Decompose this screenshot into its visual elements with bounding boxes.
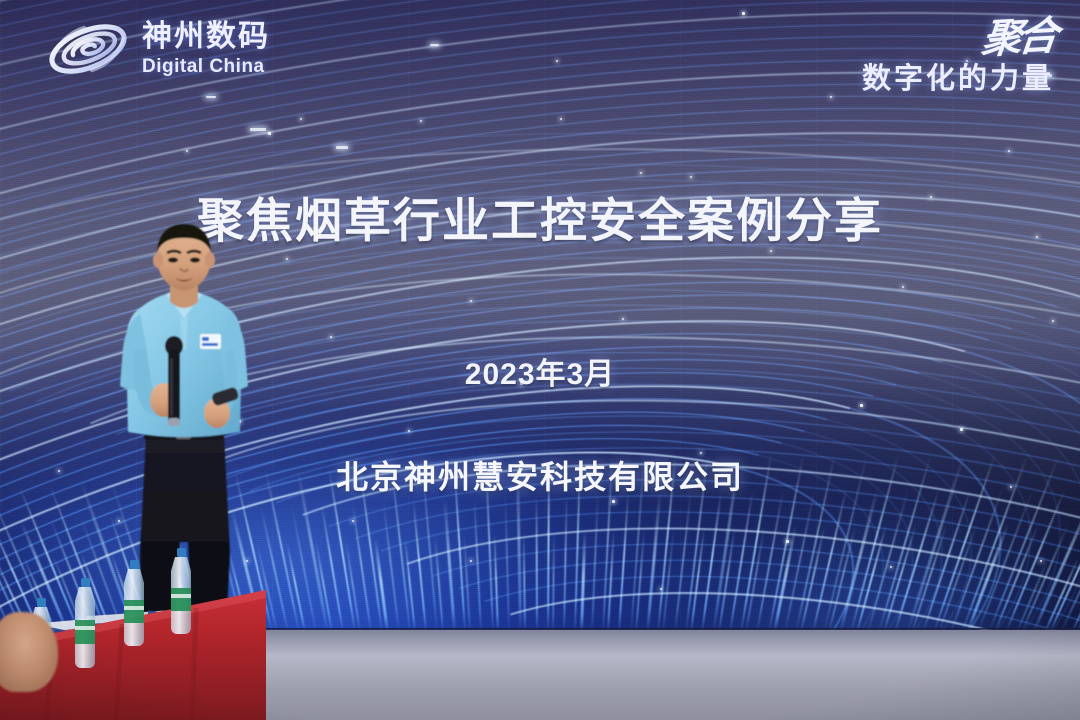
light-particle [1052, 320, 1054, 322]
light-fiber-strand [856, 525, 887, 632]
light-particle [300, 118, 302, 120]
light-particle [786, 540, 789, 543]
attendee-arm [0, 612, 58, 692]
light-particle [890, 566, 892, 568]
light-fiber-strand [580, 531, 586, 632]
light-sparkle [206, 96, 216, 98]
logo-text-cn: 神州数码 [142, 22, 270, 52]
light-fiber-strand [382, 502, 399, 632]
light-particle [1008, 150, 1010, 152]
digital-china-spiral-icon [44, 16, 132, 82]
presenter-eye-right [190, 257, 200, 262]
presenter-ear-right [205, 252, 215, 268]
light-fiber-strand [646, 492, 661, 632]
light-fiber-strand [374, 539, 389, 632]
light-fiber-strand [662, 528, 674, 632]
light-stream-arc [401, 532, 1080, 632]
light-fiber-strand [729, 491, 753, 632]
light-particle [742, 12, 745, 15]
light-fiber-strand [351, 503, 371, 632]
light-fiber-strand [1044, 558, 1079, 632]
light-fiber-strand [718, 527, 735, 632]
light-fiber-strand [828, 525, 856, 632]
light-fiber-strand [563, 495, 567, 632]
light-fiber-strand [994, 524, 1039, 632]
light-fiber-strand [950, 490, 1002, 632]
light-particle [612, 500, 615, 503]
light-fiber-strand [523, 533, 526, 632]
light-particle [286, 258, 288, 260]
light-particle [1040, 560, 1042, 562]
light-particle [860, 404, 863, 407]
light-stream-arc [185, 412, 1080, 632]
light-fiber-strand [635, 529, 645, 632]
light-fiber-strand [839, 489, 878, 632]
light-particle [830, 96, 832, 98]
light-particle [622, 318, 624, 320]
light-fiber-strand [1071, 558, 1080, 632]
light-fiber-strand [701, 491, 722, 632]
light-particle [330, 336, 332, 338]
light-fiber-strand [504, 497, 509, 632]
water-bottle [165, 548, 197, 636]
conference-stage-photo: 神州数码 Digital China 聚合 数字化的力量 聚焦烟草行业工控安全案… [0, 0, 1080, 720]
light-fiber-strand [315, 541, 333, 632]
light-fiber-strand [493, 534, 498, 632]
light-fiber-strand [1005, 490, 1065, 632]
presenter-chest-badge [200, 334, 221, 349]
light-fiber-strand [463, 535, 470, 632]
light-fiber-strand [800, 525, 825, 632]
light-particle [408, 430, 410, 432]
light-fiber-strand [773, 526, 797, 632]
light-stream-arc [150, 393, 1080, 632]
light-fiber-strand [434, 536, 444, 632]
light-fiber-strand [938, 524, 977, 632]
digital-china-logo: 神州数码 Digital China [44, 16, 270, 82]
light-stream-arc [365, 512, 1080, 632]
light-fiber-strand [1033, 490, 1080, 632]
light-fiber-strand [618, 493, 629, 632]
light-particle [960, 428, 963, 431]
light-particle [560, 118, 562, 120]
light-particle [186, 150, 188, 152]
slogan-brush-wrap: 聚合 [862, 18, 1054, 58]
light-fiber-strand [591, 494, 598, 632]
light-fiber-strand [966, 524, 1009, 632]
light-fiber-strand [1021, 524, 1068, 632]
light-fiber-strand [911, 524, 947, 632]
light-fiber-strand [1060, 491, 1080, 632]
light-fiber-strand [1016, 558, 1049, 632]
light-fiber-strand [690, 528, 705, 632]
light-fiber-strand [867, 489, 909, 632]
light-particle [902, 286, 904, 288]
light-sparkle [250, 128, 266, 131]
light-fiber-strand [345, 540, 361, 632]
event-slogan: 聚合 数字化的力量 [862, 18, 1054, 94]
light-fiber-strand [291, 506, 317, 632]
light-particle [470, 560, 472, 562]
water-bottle [118, 560, 150, 648]
light-fiber-strand [321, 505, 344, 632]
light-fiber-strand [977, 490, 1033, 632]
light-fiber-strand [1049, 524, 1080, 632]
light-sparkle [336, 146, 348, 149]
light-fiber-strand [745, 526, 765, 632]
light-fiber-strand [404, 537, 416, 632]
light-stream-arc [329, 492, 1080, 632]
presenter-eye-left [168, 257, 178, 262]
light-particle [268, 132, 271, 135]
light-fiber-strand [552, 532, 555, 632]
light-fiber-strand [535, 496, 537, 632]
light-fiber-strand [883, 524, 916, 632]
light-particle [352, 520, 354, 522]
light-fiber-strand [674, 492, 691, 632]
slogan-brush-text: 聚合 [980, 16, 1057, 60]
light-fiber-strand [756, 490, 784, 632]
light-fiber-strand [443, 499, 456, 632]
light-fiber-strand [812, 490, 847, 632]
presenter-ear-left [153, 252, 163, 268]
digital-china-wordmark: 神州数码 Digital China [142, 22, 270, 76]
light-fiber-strand [412, 501, 426, 632]
light-particle [470, 300, 472, 302]
slogan-subtitle: 数字化的力量 [862, 65, 1054, 94]
light-fiber-strand [474, 498, 482, 632]
light-fiber-strand [922, 489, 971, 632]
light-particle [660, 588, 662, 590]
water-bottle [68, 578, 102, 670]
light-sparkle [430, 44, 439, 46]
logo-text-en: Digital China [142, 57, 270, 76]
light-fiber-strand [894, 489, 939, 632]
light-fiber-strand [1076, 525, 1080, 632]
light-fiber-strand [286, 543, 306, 632]
light-particle [420, 120, 422, 122]
light-particle [690, 176, 692, 178]
light-fiber-strand [784, 490, 815, 632]
light-fiber-strand [607, 530, 614, 632]
light-particle [640, 172, 642, 174]
light-particle [556, 60, 558, 62]
